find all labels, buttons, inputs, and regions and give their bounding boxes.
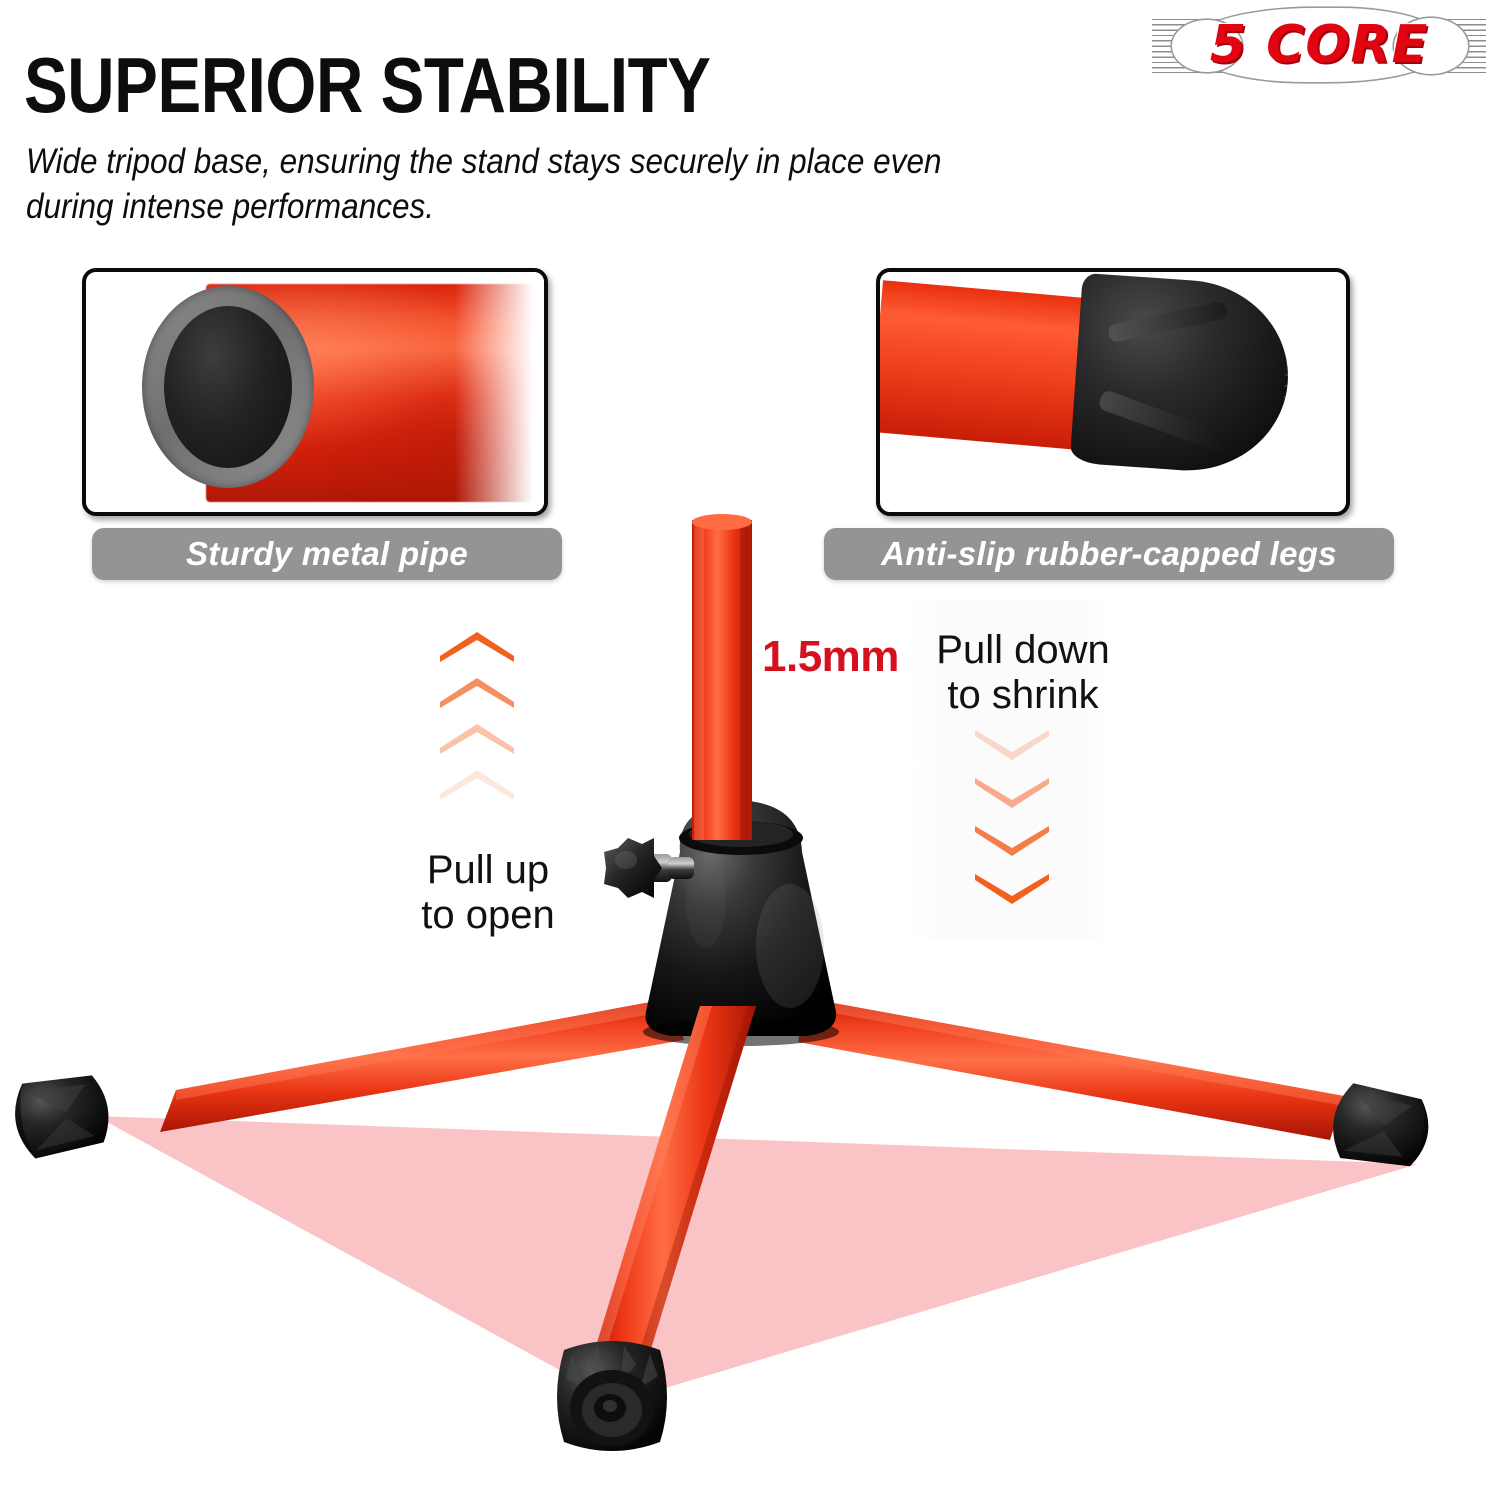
photo-metal-pipe — [82, 268, 548, 516]
tripod-illustration — [0, 500, 1500, 1500]
page-subtitle: Wide tripod base, ensuring the stand sta… — [26, 140, 980, 230]
pipe-fade-overlay — [454, 272, 544, 512]
logo-text: 5 CORE — [1152, 6, 1486, 84]
pipe-bore-hole — [164, 306, 292, 468]
pipe-wall-rim — [142, 286, 314, 488]
rubber-cap — [1070, 273, 1295, 477]
footprint-triangle — [96, 1116, 1418, 1402]
brand-logo: 5 CORE — [1152, 6, 1486, 84]
tripod-upright-tube — [692, 514, 752, 840]
infographic-canvas: 5 CORE SUPERIOR STABILITY Wide tripod ba… — [0, 0, 1500, 1500]
page-title: SUPERIOR STABILITY — [24, 40, 711, 131]
photo-rubber-foot — [876, 268, 1350, 516]
rubber-cap-ridges — [1281, 286, 1348, 448]
